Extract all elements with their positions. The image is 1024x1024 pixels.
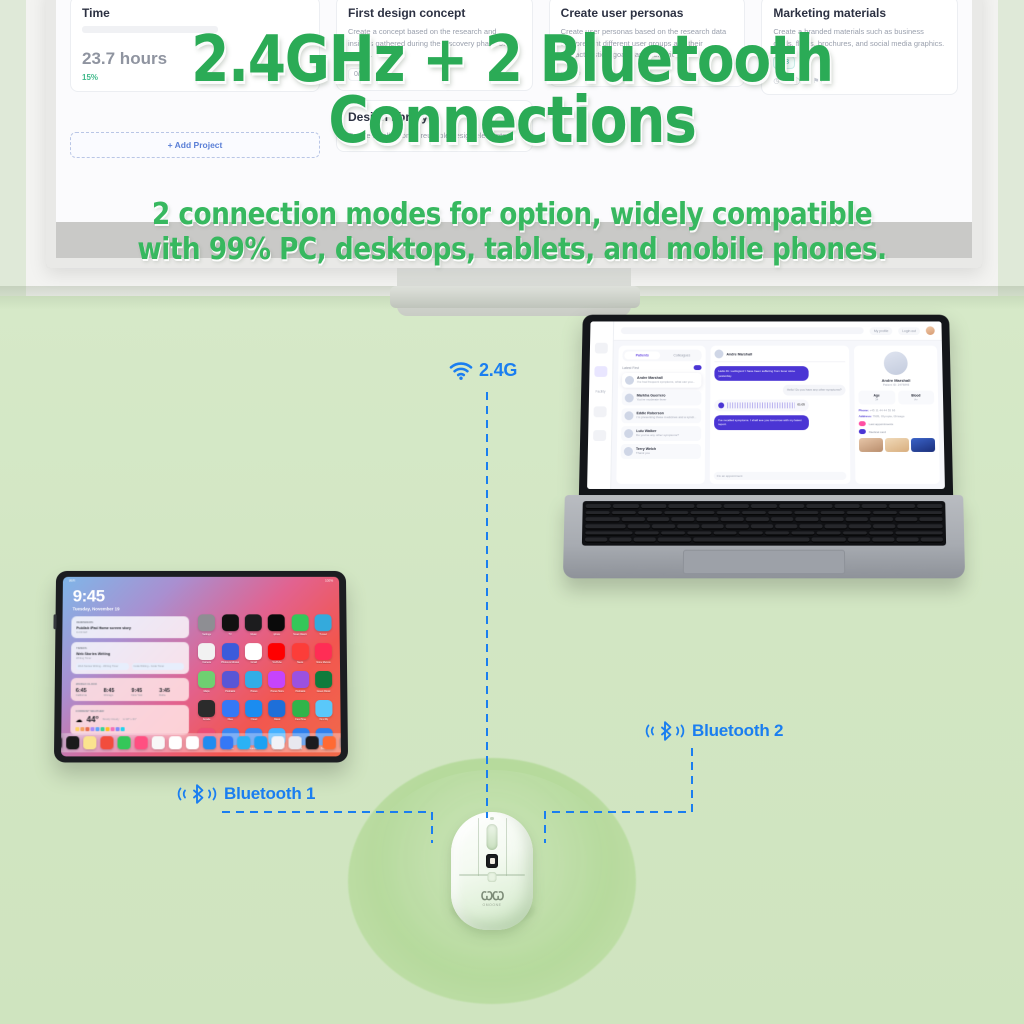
lab-icon[interactable]: [594, 406, 607, 417]
app-glyph: [292, 700, 309, 717]
avatar: [715, 350, 724, 359]
app-icon[interactable]: Tunnel: [314, 614, 331, 635]
mouse-top-vent: [490, 817, 494, 820]
app-label: Cloud: [245, 718, 262, 721]
app-label: Music: [269, 718, 286, 721]
widget-header: WORLD CLOCK: [76, 682, 184, 686]
app-icon[interactable]: Maps: [198, 671, 215, 693]
monitor-foot: [390, 286, 640, 308]
keyboard-row-numbers: [586, 511, 943, 516]
weather-widget[interactable]: CURRENT WEATHER ☁ 44° Mostly Cloudy H:48…: [70, 705, 189, 735]
app-glyph: [268, 671, 285, 688]
field-key: Phone:: [859, 408, 869, 412]
chat-input[interactable]: Fix an appointment: [714, 472, 847, 480]
app-glyph: [245, 700, 262, 717]
profile-field-address: Address: 7905, Olympia, Chicago: [859, 414, 935, 418]
app-sidebar: Facility: [587, 321, 614, 489]
subtitle-line-1: 2 connection modes for option, widely co…: [61, 198, 962, 233]
app-glyph: [268, 614, 285, 631]
widget-stack: REMINDERS Publish iPad Home screen story…: [70, 616, 189, 739]
action-label: Medical card: [869, 430, 886, 434]
world-clock-list: 6:45 California 8:45 Chicago 9:45 New Yo…: [76, 688, 184, 697]
dock-icon[interactable]: [66, 736, 79, 749]
app-label: Photos & Movies: [221, 661, 239, 664]
label-bluetooth-2: Bluetooth 2: [644, 720, 783, 742]
sort-label[interactable]: Latest First: [622, 366, 639, 370]
app-icon[interactable]: Find My: [315, 700, 332, 722]
dock-icon[interactable]: [117, 736, 130, 749]
tablet: WiFi 100% 9:45 Tuesday, November 19 REMI…: [54, 571, 348, 763]
scroll-wheel[interactable]: [487, 824, 498, 850]
app-label: Maps: [198, 689, 215, 692]
laptop-trackpad[interactable]: [683, 550, 845, 575]
chat-panel: Andre Marshall Hello Dr. Ludington! I ha…: [710, 346, 851, 484]
dpi-indicator: [490, 858, 495, 864]
dock-icon[interactable]: [254, 736, 267, 749]
timer-chip[interactable]: Web Stories Writing - Writing Timer: [76, 663, 129, 670]
chat-header-name: Andre Marshall: [726, 352, 752, 356]
widget-header: CURRENT WEATHER: [76, 709, 184, 713]
chat-input-placeholder: Fix an appointment: [717, 474, 743, 478]
laptop-base: [563, 495, 965, 578]
dock-icon[interactable]: [323, 736, 336, 749]
laptop-lid: Facility My profile Login out Patien: [579, 315, 953, 498]
app-grid: SettingsTVMusiciphotoSmart WatchTunnelCa…: [198, 614, 333, 750]
app-icon[interactable]: Cloud: [245, 700, 262, 722]
avatar[interactable]: [926, 326, 935, 335]
label-2-4g: 2.4G: [449, 360, 517, 381]
logo-text: OMOONE: [481, 903, 504, 907]
status-left: WiFi: [69, 579, 75, 583]
patient-note: I'm presenting these medicines and a syn…: [636, 416, 696, 420]
laptop-camera-notch: [731, 315, 800, 321]
weather-hi-lo: H:48° L:39°: [123, 718, 136, 721]
chat-header: Andre Marshall: [714, 350, 845, 363]
profile-field-phone: Phone: +45 11 44 44 55 66: [859, 408, 935, 412]
chat-bubble: I've recalled symptoms. I shall see you …: [714, 415, 809, 430]
app-icon[interactable]: Photos & Movies: [221, 643, 239, 664]
app-icon[interactable]: Gmail: [245, 643, 262, 664]
weather-icon: ☁: [75, 716, 82, 724]
app-glyph: [315, 700, 332, 717]
chat-bubble: Hello Dr. Ludington! I have been sufferi…: [714, 366, 808, 381]
app-label: Files: [221, 718, 239, 721]
dock-icon[interactable]: [152, 736, 165, 749]
bluetooth-signal-icon: [176, 783, 218, 805]
dock: [61, 733, 341, 752]
avatar: [884, 352, 908, 375]
app-icon[interactable]: iphoto: [268, 614, 285, 635]
world-clock-city: California: [76, 694, 101, 697]
keyboard-row-home: [585, 524, 943, 529]
avatar: [624, 411, 633, 420]
documents-icon[interactable]: [593, 430, 606, 441]
app-glyph: [222, 614, 239, 631]
avatar: [624, 429, 633, 438]
app-icon[interactable]: Settings: [198, 614, 215, 635]
clock-time: 9:45: [73, 588, 120, 605]
weather-hourly: [75, 727, 184, 731]
app-glyph: [245, 643, 262, 660]
dock-icon[interactable]: [237, 736, 250, 749]
app-icon[interactable]: Smart Watch: [291, 614, 308, 635]
patient-note: Thank you: [636, 451, 656, 455]
app-icon[interactable]: Green Music: [315, 671, 332, 693]
list-item[interactable]: Lulu Walker Do you've any other symptoms…: [621, 426, 701, 441]
timers-widget[interactable]: TIMERS Web Stories Writing Writing Timer…: [71, 642, 189, 674]
app-glyph: [245, 671, 262, 688]
stat-blood: Blood A+: [898, 391, 935, 405]
play-icon[interactable]: [718, 402, 724, 408]
widget-header: TIMERS: [76, 646, 184, 650]
voice-duration: 01:05: [797, 403, 805, 407]
widget-sub: Writing Timer: [76, 657, 184, 660]
app-icon[interactable]: iTunes Store: [268, 671, 285, 693]
dock-icon[interactable]: [135, 736, 148, 749]
bluetooth-signal-icon: [644, 720, 686, 742]
avatar: [625, 376, 634, 385]
status-bar: WiFi 100%: [69, 579, 333, 583]
app-label: Podcasts: [221, 689, 239, 692]
medical-dashboard-app: Facility My profile Login out Patien: [587, 321, 945, 489]
tab-patients[interactable]: Patients: [624, 352, 660, 360]
headline: 2.4GHz + 2 Bluetooth Connections: [0, 30, 1024, 153]
patient-note: Do you've any other symptoms?: [636, 433, 679, 437]
patient-list-panel: Patients Colleagues Latest First Andre: [616, 346, 705, 484]
world-clock-item: 8:45 Chicago: [104, 688, 129, 697]
card-title: Create user personas: [561, 6, 734, 20]
app-icon[interactable]: Music: [269, 700, 286, 722]
card-icon: [859, 429, 866, 434]
dock-icon[interactable]: [220, 736, 233, 749]
add-patient-button[interactable]: [694, 365, 702, 370]
app-label: Music: [245, 633, 262, 636]
last-appointments-action[interactable]: Last appointments: [859, 421, 935, 426]
reminders-widget[interactable]: REMINDERS Publish iPad Home screen story…: [71, 616, 189, 638]
label-text: 2.4G: [479, 360, 517, 381]
avatar: [625, 394, 634, 403]
dock-icon[interactable]: [288, 736, 301, 749]
app-glyph: [291, 614, 308, 631]
widget-sub: 11:00 AM: [76, 631, 184, 634]
profile-patient-id: Patient ID: 2475845: [858, 383, 934, 387]
app-body: Patients Colleagues Latest First Andre: [611, 341, 945, 489]
search-input[interactable]: [621, 327, 864, 334]
dock-icon[interactable]: [186, 736, 199, 749]
product-marketing-image: Time 23.7 hours 15% + Add Project First …: [0, 0, 1024, 1024]
app-label: Gmail: [245, 661, 262, 664]
patient-note: You've moderate fever: [637, 398, 667, 402]
app-glyph: [268, 643, 285, 660]
list-item[interactable]: Andre Marshall I've had frequent symptom…: [622, 373, 702, 388]
weather-temp: 44°: [86, 715, 98, 724]
patient-profile-panel: Andre Marshall Patient ID: 2475845 Age 3…: [854, 346, 940, 484]
subtitle: 2 connection modes for option, widely co…: [0, 198, 1024, 268]
app-icon[interactable]: TV: [221, 614, 239, 635]
field-value: +45 11 44 44 55 66: [870, 408, 896, 412]
list-item[interactable]: Markha Guerrero You've moderate fever: [622, 391, 702, 406]
app-glyph: [222, 671, 239, 688]
app-label: iTunes: [245, 689, 262, 692]
headline-line-1: 2.4GHz + 2 Bluetooth: [72, 30, 953, 91]
app-label: Settings: [198, 633, 215, 636]
world-clock-city: Doha: [159, 694, 184, 697]
app-icon[interactable]: YouTube: [268, 643, 285, 664]
world-clock-city: New York: [131, 694, 156, 697]
dock-icon[interactable]: [61, 736, 62, 749]
dock-icon[interactable]: [271, 736, 284, 749]
label-text: Bluetooth 2: [692, 721, 783, 741]
app-glyph: [245, 614, 262, 631]
thumbnail[interactable]: [885, 438, 909, 452]
world-clock-city: Chicago: [104, 694, 129, 697]
avatar: [624, 447, 633, 456]
timer-chip[interactable]: Code Writing - Code Timer: [131, 663, 184, 670]
voice-message[interactable]: 01:05: [714, 399, 809, 411]
card-title: Marketing materials: [773, 6, 946, 20]
app-label: Green Music: [315, 689, 332, 692]
app-label: Find My: [315, 718, 332, 721]
profile-stats: Age 34 Blood A+: [858, 391, 934, 405]
stat-value: A+: [900, 398, 932, 402]
waveform: [727, 402, 794, 408]
dock-icon[interactable]: [83, 736, 96, 749]
list-tabs: Patients Colleagues: [622, 350, 701, 362]
app-icon[interactable]: iTunes: [245, 671, 262, 693]
laptop: Facility My profile Login out Patien: [563, 315, 965, 578]
list-item[interactable]: Terry Welch Thank you: [621, 444, 701, 459]
tablet-screen: WiFi 100% 9:45 Tuesday, November 19 REMI…: [61, 577, 341, 757]
brand-logo: ꞶꞶ OMOONE: [481, 890, 504, 907]
label-bluetooth-1: Bluetooth 1: [176, 783, 315, 805]
status-right: 100%: [325, 579, 333, 583]
app-icon[interactable]: Arcade: [198, 700, 215, 722]
weather-row: ☁ 44° Mostly Cloudy H:48° L:39°: [75, 715, 184, 724]
time-card-title: Time: [82, 6, 308, 20]
tablet-side-buttons: [53, 614, 56, 629]
app-glyph: [222, 643, 239, 660]
app-label: iphoto: [268, 633, 285, 636]
subtitle-line-2: with 99% PC, desktops, tablets, and mobi…: [61, 233, 962, 268]
lock-clock: 9:45 Tuesday, November 19: [73, 588, 120, 612]
app-label: TV: [221, 633, 239, 636]
dpi-button[interactable]: [486, 854, 498, 868]
list-item[interactable]: Eddie Roberson I'm presenting these medi…: [621, 408, 701, 423]
dock-icon[interactable]: [169, 736, 182, 749]
field-value: 7905, Olympia, Chicago: [872, 414, 904, 418]
logout-button[interactable]: Login out: [898, 327, 920, 335]
dashboard-icon[interactable]: [595, 343, 608, 354]
app-icon[interactable]: Music: [245, 614, 262, 635]
stat-age: Age 34: [858, 391, 894, 405]
dock-icon[interactable]: [306, 736, 319, 749]
app-icon[interactable]: News: [291, 643, 308, 664]
mode-switch-button[interactable]: [488, 872, 497, 882]
app-glyph: [198, 671, 215, 688]
wireless-mouse[interactable]: ꞶꞶ OMOONE: [451, 812, 533, 930]
patient-note: I've had frequent symptoms, what can you…: [637, 380, 695, 384]
app-label: YouTube: [268, 661, 285, 664]
dock-icon[interactable]: [100, 736, 113, 749]
app-glyph: [198, 700, 215, 717]
keyboard-row-qwerty: [585, 518, 942, 523]
app-icon[interactable]: Files: [221, 700, 239, 722]
app-label: Tunnel: [314, 633, 331, 636]
card-title: First design concept: [348, 6, 521, 20]
app-glyph: [198, 614, 215, 631]
widget-header: REMINDERS: [76, 620, 184, 624]
app-icon[interactable]: Camera: [198, 643, 215, 664]
app-icon[interactable]: FaceTime: [292, 700, 309, 722]
app-topbar: My profile Login out: [614, 321, 942, 340]
thumbnail[interactable]: [859, 438, 883, 452]
profile-thumbnails: [859, 438, 935, 452]
calendar-icon: [859, 421, 866, 426]
keyboard-row-space: [585, 538, 943, 543]
facility-icon[interactable]: [594, 366, 607, 377]
chat-bubble: Hello! Do you have any other symptoms?: [783, 385, 846, 395]
my-profile-button[interactable]: My profile: [870, 327, 893, 335]
weather-cond: Mostly Cloudy: [103, 718, 119, 721]
app-label: FaceTime: [292, 718, 309, 721]
sidebar-item-label: Facility: [596, 390, 606, 394]
stat-value: 34: [860, 398, 892, 402]
dock-icon[interactable]: [203, 736, 216, 749]
app-glyph: [314, 614, 331, 631]
app-glyph: [292, 671, 309, 688]
app-icon[interactable]: Podcasts: [221, 671, 239, 693]
world-clock-item: 9:45 New York: [131, 688, 156, 697]
app-glyph: [269, 700, 286, 717]
clock-date: Tuesday, November 19: [73, 606, 120, 611]
app-icon[interactable]: Podcasts: [292, 671, 309, 693]
keyboard-row-function: [586, 504, 943, 509]
app-glyph: [198, 643, 215, 660]
wifi-icon: [449, 361, 473, 380]
app-label: Smart Watch: [291, 633, 308, 636]
headline-line-2: Connections: [72, 91, 953, 152]
app-label: Camera: [198, 661, 215, 664]
app-label: Voice Memos: [315, 661, 332, 664]
app-label: News: [292, 661, 309, 664]
app-label: iTunes Store: [268, 689, 285, 692]
world-clock-widget[interactable]: WORLD CLOCK 6:45 California 8:45 Chicago…: [71, 678, 189, 701]
tab-colleagues[interactable]: Colleagues: [664, 352, 700, 360]
logo-mark: ꞶꞶ: [481, 890, 504, 902]
field-key: Address:: [859, 414, 872, 418]
world-clock-item: 6:45 California: [76, 688, 101, 697]
app-label: Arcade: [198, 718, 215, 721]
thumbnail[interactable]: [911, 438, 935, 452]
action-label: Last appointments: [869, 422, 894, 426]
app-glyph: [292, 643, 309, 660]
laptop-keyboard[interactable]: [582, 501, 946, 546]
app-glyph: [222, 700, 239, 717]
world-clock-item: 3:45 Doha: [159, 688, 184, 697]
app-glyph: [315, 643, 332, 660]
laptop-screen: Facility My profile Login out Patien: [587, 321, 945, 489]
app-icon[interactable]: Voice Memos: [315, 643, 332, 664]
keyboard-row-shift: [585, 531, 943, 536]
label-text: Bluetooth 1: [224, 784, 315, 804]
sort-row: Latest First: [622, 365, 701, 370]
dock-icon[interactable]: [340, 736, 341, 749]
app-label: Podcasts: [292, 689, 309, 692]
medical-card-action[interactable]: Medical card: [859, 429, 935, 434]
app-glyph: [315, 671, 332, 688]
